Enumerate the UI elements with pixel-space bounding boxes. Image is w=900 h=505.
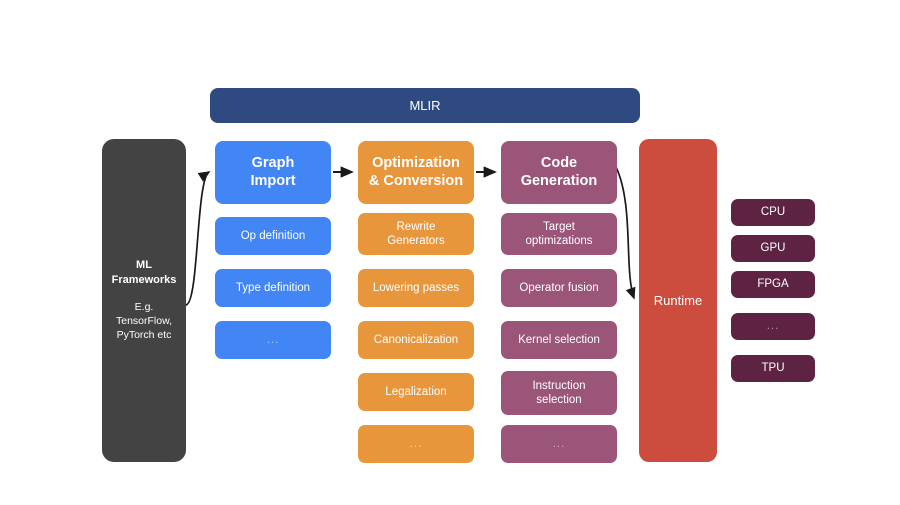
item-graph-import-more[interactable]: ...: [215, 321, 331, 359]
item-op-definition-label: Op definition: [241, 229, 306, 243]
arrow-codegen-to-runtime: [616, 167, 634, 298]
item-type-definition-label: Type definition: [236, 281, 310, 295]
arrow-frameworks-to-graph-import: [186, 172, 209, 305]
stage-head-code-generation[interactable]: Code Generation: [501, 141, 617, 204]
item-optimization-more-label: ...: [410, 437, 423, 451]
item-instruction-selection-label: Instruction selection: [532, 379, 585, 407]
item-kernel-selection[interactable]: Kernel selection: [501, 321, 617, 359]
item-lowering-passes-label: Lowering passes: [373, 281, 459, 295]
accelerator-cpu-label: CPU: [761, 205, 785, 219]
item-canonicalization[interactable]: Canonicalization: [358, 321, 474, 359]
stage-head-code-generation-label: Code Generation: [521, 155, 598, 190]
mlir-title-bar: MLIR: [210, 88, 640, 123]
item-type-definition[interactable]: Type definition: [215, 269, 331, 307]
item-target-optimizations-label: Target optimizations: [525, 220, 592, 248]
item-instruction-selection[interactable]: Instruction selection: [501, 371, 617, 415]
accelerator-tpu[interactable]: TPU: [731, 355, 815, 382]
item-op-definition[interactable]: Op definition: [215, 217, 331, 255]
accelerator-tpu-label: TPU: [762, 361, 785, 375]
item-kernel-selection-label: Kernel selection: [518, 333, 600, 347]
item-rewrite-generators[interactable]: Rewrite Generators: [358, 213, 474, 255]
item-legalization-label: Legalization: [385, 385, 446, 399]
accelerator-fpga[interactable]: FPGA: [731, 271, 815, 298]
accelerator-gpu-label: GPU: [761, 241, 786, 255]
runtime-label: Runtime: [654, 293, 702, 309]
runtime-block[interactable]: Runtime: [639, 139, 717, 462]
item-rewrite-generators-label: Rewrite Generators: [387, 220, 445, 248]
accelerator-more-label: ...: [767, 319, 780, 333]
accelerator-gpu[interactable]: GPU: [731, 235, 815, 262]
diagram-canvas: MLIR ML Frameworks E.g. TensorFlow, PyTo…: [0, 0, 900, 505]
item-target-optimizations[interactable]: Target optimizations: [501, 213, 617, 255]
item-operator-fusion[interactable]: Operator fusion: [501, 269, 617, 307]
item-lowering-passes[interactable]: Lowering passes: [358, 269, 474, 307]
ml-frameworks-block: ML Frameworks E.g. TensorFlow, PyTorch e…: [102, 139, 186, 462]
ml-frameworks-subtitle: E.g. TensorFlow, PyTorch etc: [116, 300, 172, 343]
item-graph-import-more-label: ...: [267, 333, 280, 347]
item-operator-fusion-label: Operator fusion: [519, 281, 598, 295]
item-optimization-more[interactable]: ...: [358, 425, 474, 463]
mlir-title-label: MLIR: [409, 98, 440, 114]
stage-head-graph-import[interactable]: Graph Import: [215, 141, 331, 204]
item-code-generation-more[interactable]: ...: [501, 425, 617, 463]
stage-head-optimization-conversion-label: Optimization & Conversion: [369, 155, 463, 190]
stage-head-graph-import-label: Graph Import: [250, 155, 295, 190]
stage-head-optimization-conversion[interactable]: Optimization & Conversion: [358, 141, 474, 204]
item-legalization[interactable]: Legalization: [358, 373, 474, 411]
accelerator-fpga-label: FPGA: [757, 277, 788, 291]
ml-frameworks-title: ML Frameworks: [112, 258, 177, 287]
item-canonicalization-label: Canonicalization: [374, 333, 458, 347]
accelerator-cpu[interactable]: CPU: [731, 199, 815, 226]
accelerator-more[interactable]: ...: [731, 313, 815, 340]
item-code-generation-more-label: ...: [553, 437, 566, 451]
